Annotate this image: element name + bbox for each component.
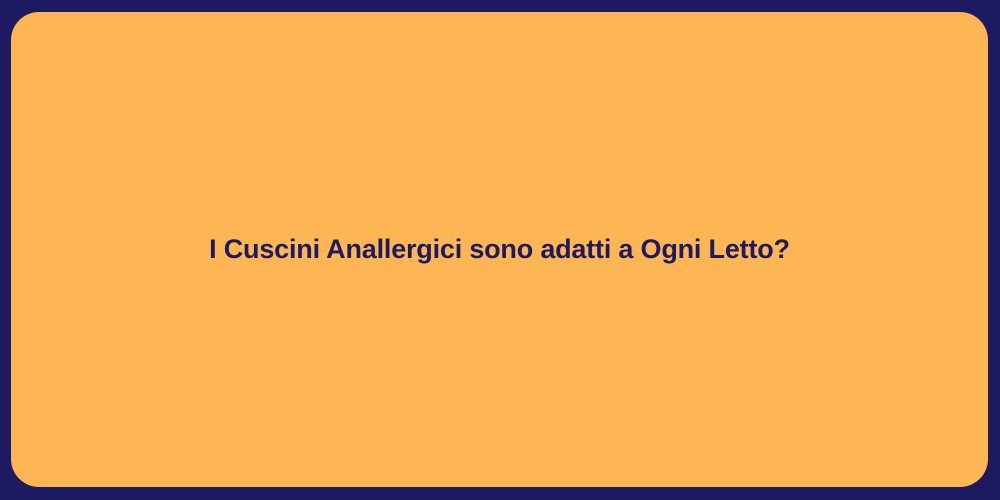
content-card: I Cuscini Anallergici sono adatti a Ogni… <box>11 12 988 487</box>
card-body: I Cuscini Anallergici sono adatti a Ogni… <box>11 233 988 267</box>
page-title: I Cuscini Anallergici sono adatti a Ogni… <box>209 233 790 267</box>
page-frame: I Cuscini Anallergici sono adatti a Ogni… <box>0 0 1000 500</box>
